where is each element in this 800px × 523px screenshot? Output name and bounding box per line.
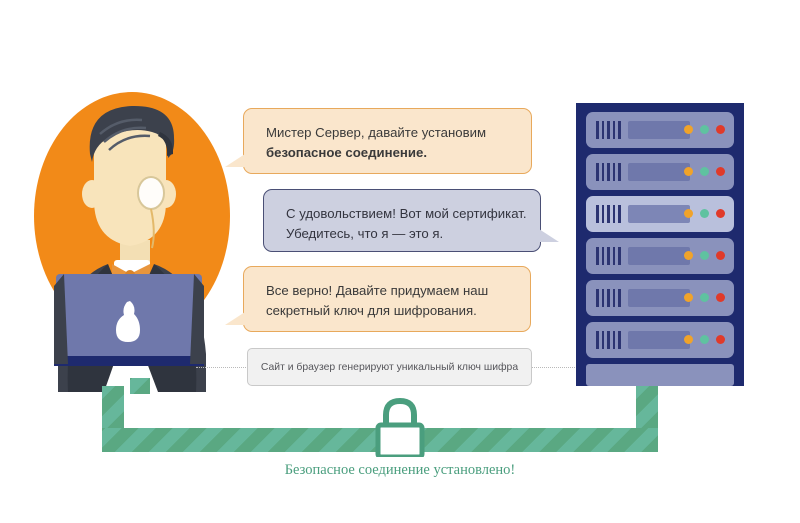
bubble-tail xyxy=(225,154,245,167)
connection-band-client-stub xyxy=(130,378,150,394)
server-rack xyxy=(576,103,744,386)
server-panel xyxy=(628,289,690,307)
led-red-icon xyxy=(716,251,725,260)
connection-established-caption: Безопасное соединение установлено! xyxy=(0,462,800,479)
bubble-client-keyexchange-line1: Все верно! Давайте придумаем наш xyxy=(266,281,510,301)
connector-line-right xyxy=(532,367,577,368)
led-red-icon xyxy=(716,167,725,176)
led-amber-icon xyxy=(684,293,693,302)
server-rack-base xyxy=(586,364,734,386)
led-green-icon xyxy=(700,167,709,176)
bubble-client-keyexchange-line2: секретный ключ для шифрования. xyxy=(266,301,510,321)
padlock-illustration xyxy=(360,395,440,457)
led-amber-icon xyxy=(684,167,693,176)
key-generation-status-box: Сайт и браузер генерируют уникальный клю… xyxy=(247,348,532,386)
connector-line-left xyxy=(196,367,248,368)
server-vents-icon xyxy=(596,121,621,139)
led-green-icon xyxy=(700,209,709,218)
key-generation-status-text: Сайт и браузер генерируют уникальный клю… xyxy=(261,362,518,373)
server-panel xyxy=(628,121,690,139)
bubble-client-hello-line1: Мистер Сервер, давайте установим xyxy=(266,123,511,143)
server-vents-icon xyxy=(596,205,621,223)
server-vents-icon xyxy=(596,331,621,349)
server-vents-icon xyxy=(596,163,621,181)
bubble-client-hello-line2: безопасное соединение. xyxy=(266,143,511,163)
led-green-icon xyxy=(700,125,709,134)
led-green-icon xyxy=(700,293,709,302)
server-status-leds xyxy=(684,209,725,218)
bubble-server-certificate-line1: С удовольствием! Вот мой сертификат. xyxy=(286,204,520,224)
bubble-server-certificate: С удовольствием! Вот мой сертификат. Убе… xyxy=(263,189,541,252)
caption-text: Безопасное соединение установлено! xyxy=(285,462,516,478)
server-unit xyxy=(586,238,734,274)
server-status-leds xyxy=(684,293,725,302)
bubble-tail xyxy=(539,229,559,242)
server-unit xyxy=(586,322,734,358)
server-unit-active xyxy=(586,196,734,232)
server-unit xyxy=(586,280,734,316)
infographic-scene: Мистер Сервер, давайте установим безопас… xyxy=(0,0,800,523)
led-red-icon xyxy=(716,125,725,134)
server-vents-icon xyxy=(596,289,621,307)
led-red-icon xyxy=(716,209,725,218)
led-amber-icon xyxy=(684,335,693,344)
server-status-leds xyxy=(684,167,725,176)
bubble-tail xyxy=(225,312,245,325)
led-green-icon xyxy=(700,335,709,344)
server-panel xyxy=(628,247,690,265)
bubble-client-hello: Мистер Сервер, давайте установим безопас… xyxy=(243,108,532,174)
laptop-illustration xyxy=(54,272,204,374)
server-unit xyxy=(586,154,734,190)
server-vents-icon xyxy=(596,247,621,265)
client-laptop xyxy=(54,272,204,374)
led-amber-icon xyxy=(684,125,693,134)
connection-band-left xyxy=(102,386,124,428)
server-status-leds xyxy=(684,125,725,134)
led-amber-icon xyxy=(684,251,693,260)
led-green-icon xyxy=(700,251,709,260)
bubble-server-certificate-line2: Убедитесь, что я — это я. xyxy=(286,224,520,244)
server-panel xyxy=(628,331,690,349)
server-panel xyxy=(628,205,690,223)
server-status-leds xyxy=(684,251,725,260)
padlock-closed-icon xyxy=(360,395,440,457)
led-red-icon xyxy=(716,335,725,344)
bubble-client-keyexchange: Все верно! Давайте придумаем наш секретн… xyxy=(243,266,531,332)
server-unit xyxy=(586,112,734,148)
connection-band-right xyxy=(636,386,658,428)
led-red-icon xyxy=(716,293,725,302)
server-panel xyxy=(628,163,690,181)
server-status-leds xyxy=(684,335,725,344)
led-amber-icon xyxy=(684,209,693,218)
